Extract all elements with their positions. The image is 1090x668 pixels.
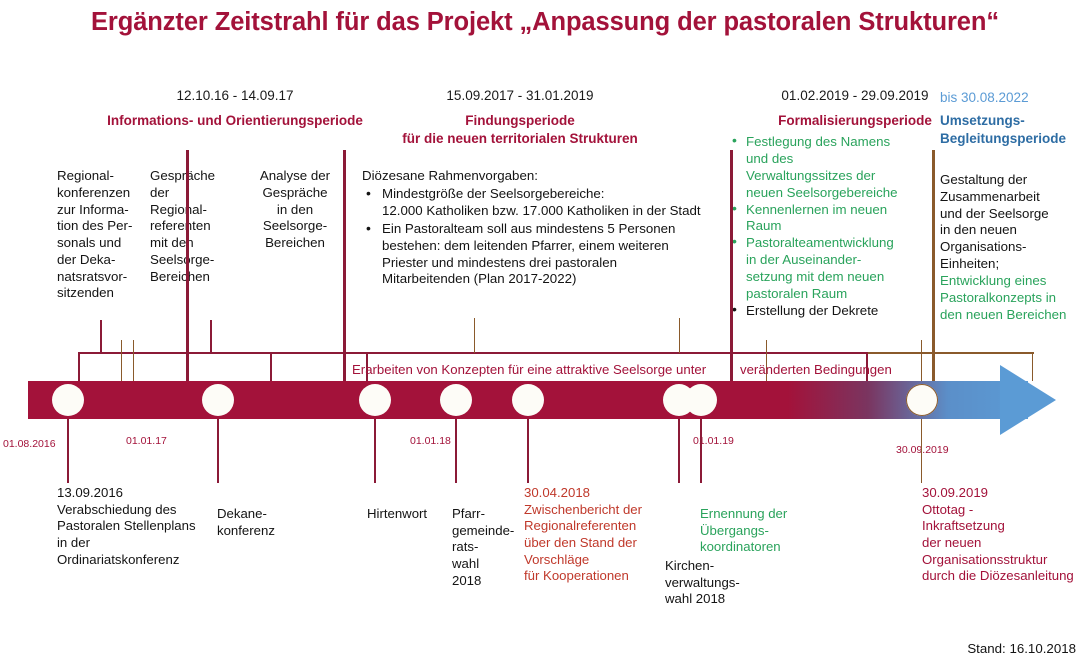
formalisierung-list: Festlegung des Namens und des Verwaltung…	[730, 134, 915, 320]
bar-date-2017: 01.01.17	[126, 435, 167, 447]
period-date-informations: 12.10.16 - 14.09.17	[110, 88, 360, 103]
timeline-arrowhead-icon	[1000, 365, 1056, 435]
dropline-event-j	[921, 340, 922, 381]
event-pfarrgemeinderatswahl: Pfarr- gemeinde- rats- wahl 2018	[452, 506, 520, 589]
page-title: Ergänzter Zeitstrahl für das Projekt „An…	[0, 8, 1090, 37]
period-divider-formalisierung-start	[730, 150, 733, 381]
event-verabschiedung: 13.09.2016 Verabschiedung des Pastoralen…	[57, 485, 217, 568]
milestone-node-4[interactable]	[440, 384, 472, 416]
dropline-event-a	[100, 320, 102, 353]
formalisierung-bullet-2: Kennenlernen im neuen Raum	[730, 202, 915, 236]
column-umsetzung-green: Entwicklung eines Pastoralkonzepts in de…	[940, 273, 1090, 323]
dropline-below-6	[678, 419, 680, 483]
dropline-event-e	[270, 352, 272, 381]
event-kirchenverwaltungswahl: Kirchen- verwaltungs- wahl 2018	[665, 558, 785, 608]
event-dekanekonferenz: Dekane- konferenz	[217, 506, 307, 539]
period-name-umsetzung-line2: Begleitungsperiode	[940, 131, 1090, 148]
formalisierung-bullet-3: Pastoralteamentwicklung in der Auseinand…	[730, 235, 915, 303]
dropline-below-7	[700, 419, 702, 483]
period-date-findung: 15.09.2017 - 31.01.2019	[370, 88, 670, 103]
dropline-event-b	[121, 340, 122, 381]
bar-date-2016: 01.08.2016	[3, 438, 56, 450]
period-name-findung-line2: für die neuen territorialen Strukturen	[340, 131, 700, 148]
milestone-node-3[interactable]	[359, 384, 391, 416]
period-name-umsetzung-line1: Umsetzungs-	[940, 113, 1090, 130]
milestone-node-2[interactable]	[202, 384, 234, 416]
period-name-informations: Informations- und Orientierungsperiode	[60, 113, 410, 130]
formalisierung-bullet-4: Erstellung der Dekrete	[730, 303, 915, 320]
bracket-upper-rule-brown	[866, 352, 1034, 354]
event-ernennung: Ernennung der Übergangs- koordinatoren	[700, 506, 830, 556]
rahmenvorgaben-bullet-1: Mindestgröße der Seelsorgebereiche: 12.0…	[362, 186, 732, 220]
concept-band-right: veränderten Bedingungen	[740, 362, 892, 377]
period-divider-umsetzung-start	[932, 150, 935, 381]
dropline-below-8	[921, 419, 922, 483]
event-zwischenbericht: 30.04.2018 Zwischenbericht der Regionalr…	[524, 485, 674, 585]
event-hirtenwort: Hirtenwort	[367, 506, 452, 523]
dropline-below-4	[455, 419, 457, 483]
timeline-diagram: Ergänzter Zeitstrahl für das Projekt „An…	[0, 0, 1090, 668]
dropline-below-3	[374, 419, 376, 483]
rahmenvorgaben-heading: Diözesane Rahmenvorgaben:	[362, 168, 722, 185]
milestone-node-7[interactable]	[685, 384, 717, 416]
dropline-below-1	[67, 419, 69, 483]
column-analyse: Analyse der Gespräche in den Seelsorge- …	[244, 168, 346, 252]
dropline-below-5	[527, 419, 529, 483]
dropline-event-c	[133, 340, 134, 381]
period-divider-informations	[186, 150, 189, 381]
dropline-event-h	[679, 318, 680, 353]
concept-band-left: Erarbeiten von Konzepten für eine attrak…	[352, 362, 706, 377]
milestone-node-5[interactable]	[512, 384, 544, 416]
period-date-umsetzung: bis 30.08.2022	[940, 90, 1090, 105]
dropline-below-2	[217, 419, 219, 483]
event-ottotag: 30.09.2019 Ottotag - Inkraftsetzung der …	[922, 485, 1090, 585]
rahmenvorgaben-bullet-2: Ein Pastoralteam soll aus mindestens 5 P…	[362, 221, 732, 289]
bracket-leg-left	[78, 352, 80, 381]
rahmenvorgaben-list: Mindestgröße der Seelsorgebereiche: 12.0…	[362, 185, 732, 288]
period-name-findung-line1: Findungsperiode	[370, 113, 670, 130]
column-gespraeche-regionalreferenten: Gespräche der Regional- referenten mit d…	[150, 168, 242, 285]
stand-date: Stand: 16.10.2018	[967, 641, 1076, 656]
bracket-upper-rule	[78, 352, 868, 354]
period-divider-findung-start	[343, 150, 346, 381]
milestone-node-1[interactable]	[52, 384, 84, 416]
column-umsetzung-black: Gestaltung der Zusammenarbeit und der Se…	[940, 172, 1090, 273]
dropline-event-g	[474, 318, 475, 353]
milestone-node-8[interactable]	[906, 384, 938, 416]
dropline-event-d	[210, 320, 212, 353]
bar-date-2018: 01.01.18	[410, 435, 451, 447]
formalisierung-bullet-1: Festlegung des Namens und des Verwaltung…	[730, 134, 915, 202]
column-regionalkonferenzen: Regional- konferenzen zur Informa- tion …	[57, 168, 147, 302]
